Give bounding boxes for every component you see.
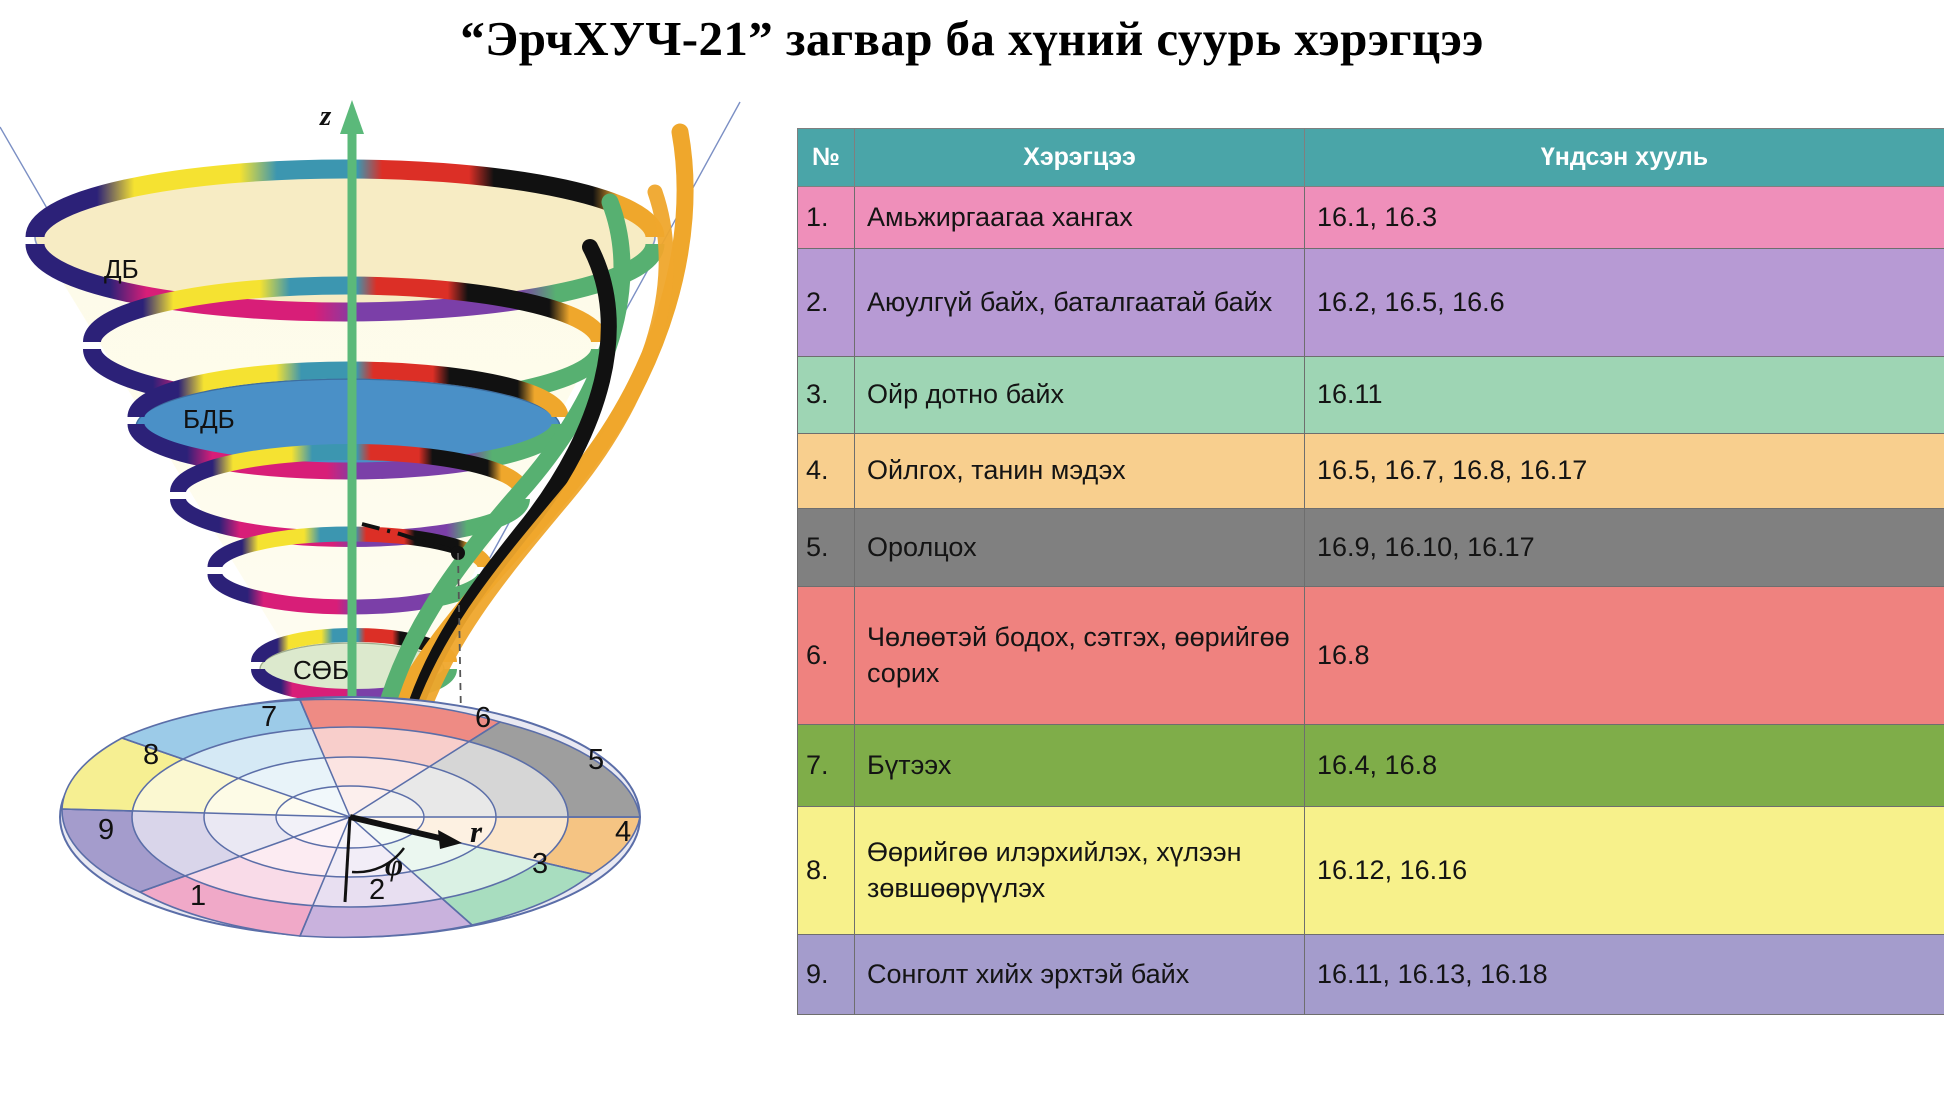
row-number-cell: 6. (798, 587, 855, 725)
column-header-no: № (798, 129, 855, 187)
table-row: 1.Амьжиргаагаа хангах16.1, 16.3 (798, 187, 1944, 249)
table-header-row: № Хэрэгцээ Үндсэн хууль (798, 129, 1944, 187)
need-cell: Сонголт хийх эрхтэй байх (855, 935, 1305, 1015)
axis-label-z: z (320, 100, 331, 133)
table-body: 1.Амьжиргаагаа хангах16.1, 16.32.Аюулгүй… (798, 187, 1944, 1015)
law-reference-cell: 16.9, 16.10, 16.17 (1305, 509, 1944, 587)
law-reference-cell: 16.4, 16.8 (1305, 725, 1944, 807)
ring-label-sob: СӨБ (293, 655, 349, 686)
law-reference-cell: 16.11, 16.13, 16.18 (1305, 935, 1944, 1015)
row-number-cell: 3. (798, 357, 855, 434)
axis-label-phi: φ (385, 847, 403, 883)
table-row: 7.Бүтээх16.4, 16.8 (798, 725, 1944, 807)
erchhuch-cone-diagram: ДБ БДБ СӨБ z r φ 1 2 3 4 5 6 7 8 9 (0, 72, 790, 1082)
ring-label-db: ДБ (104, 254, 139, 285)
row-number-cell: 2. (798, 249, 855, 357)
table-row: 6.Чөлөөтэй бодох, сэтгэх, өөрийгөө сорих… (798, 587, 1944, 725)
row-number-cell: 1. (798, 187, 855, 249)
column-header-need: Хэрэгцээ (855, 129, 1305, 187)
slide-canvas: “ЭрчХУЧ-21” загвар ба хүний суурь хэрэгц… (0, 0, 1944, 1098)
row-number-cell: 4. (798, 434, 855, 509)
sector-number-2: 2 (369, 874, 385, 907)
need-cell: Ойр дотно байх (855, 357, 1305, 434)
needs-law-table-container: № Хэрэгцээ Үндсэн хууль 1.Амьжиргаагаа х… (797, 128, 1944, 1015)
cone-spiral-svg (0, 72, 790, 1082)
need-cell: Ойлгох, танин мэдэх (855, 434, 1305, 509)
law-reference-cell: 16.5, 16.7, 16.8, 16.17 (1305, 434, 1944, 509)
column-header-law: Үндсэн хууль (1305, 129, 1944, 187)
z-axis-arrowhead (340, 100, 364, 134)
need-cell: Чөлөөтэй бодох, сэтгэх, өөрийгөө сорих (855, 587, 1305, 725)
table-row: 5.Оролцох16.9, 16.10, 16.17 (798, 509, 1944, 587)
polar-disc (60, 697, 640, 937)
row-number-cell: 5. (798, 509, 855, 587)
need-cell: Оролцох (855, 509, 1305, 587)
law-reference-cell: 16.2, 16.5, 16.6 (1305, 249, 1944, 357)
axis-label-r: r (470, 814, 482, 850)
sector-number-1: 1 (190, 880, 206, 913)
table-row: 9.Сонголт хийх эрхтэй байх16.11, 16.13, … (798, 935, 1944, 1015)
need-cell: Өөрийгөө илэрхийлэх, хүлээн зөвшөөрүүлэх (855, 807, 1305, 935)
row-number-cell: 9. (798, 935, 855, 1015)
need-cell: Аюулгүй байх, баталгаатай байх (855, 249, 1305, 357)
ring-label-bdb: БДБ (183, 404, 235, 435)
sector-number-7: 7 (261, 701, 277, 734)
law-reference-cell: 16.1, 16.3 (1305, 187, 1944, 249)
law-reference-cell: 16.8 (1305, 587, 1944, 725)
table-row: 3.Ойр дотно байх16.11 (798, 357, 1944, 434)
table-row: 4.Ойлгох, танин мэдэх16.5, 16.7, 16.8, 1… (798, 434, 1944, 509)
law-reference-cell: 16.11 (1305, 357, 1944, 434)
need-cell: Амьжиргаагаа хангах (855, 187, 1305, 249)
sector-number-3: 3 (532, 848, 548, 881)
sector-number-8: 8 (143, 739, 159, 772)
law-reference-cell: 16.12, 16.16 (1305, 807, 1944, 935)
page-title: “ЭрчХУЧ-21” загвар ба хүний суурь хэрэгц… (0, 8, 1944, 70)
row-number-cell: 7. (798, 725, 855, 807)
sector-number-4: 4 (615, 816, 631, 849)
needs-law-table: № Хэрэгцээ Үндсэн хууль 1.Амьжиргаагаа х… (797, 128, 1944, 1015)
table-row: 2.Аюулгүй байх, баталгаатай байх16.2, 16… (798, 249, 1944, 357)
need-cell: Бүтээх (855, 725, 1305, 807)
sector-number-5: 5 (588, 744, 604, 777)
row-number-cell: 8. (798, 807, 855, 935)
sector-number-6: 6 (475, 702, 491, 735)
sector-number-9: 9 (98, 814, 114, 847)
table-row: 8.Өөрийгөө илэрхийлэх, хүлээн зөвшөөрүүл… (798, 807, 1944, 935)
